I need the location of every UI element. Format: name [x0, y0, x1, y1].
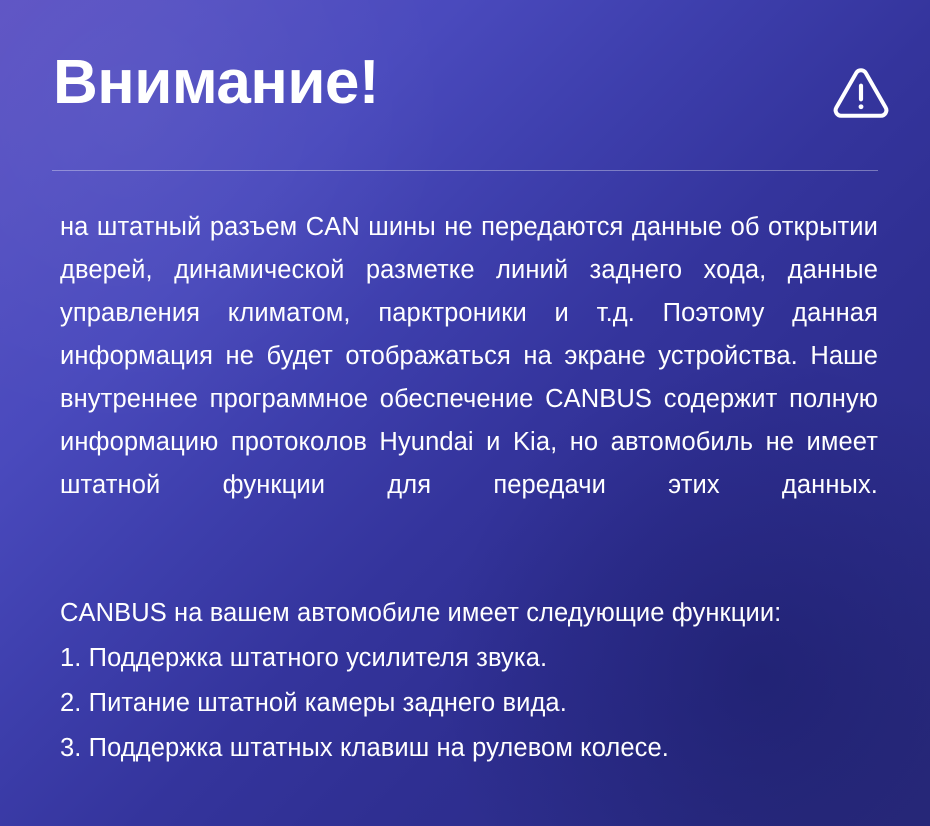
header-divider — [52, 170, 878, 171]
functions-intro: CANBUS на вашем автомобиле имеет следующ… — [60, 592, 880, 635]
list-item: 2. Питание штатной камеры заднего вида. — [60, 682, 880, 725]
warning-triangle-icon — [830, 62, 892, 124]
functions-list: 1. Поддержка штатного усилителя звука. 2… — [60, 637, 880, 770]
functions-section: CANBUS на вашем автомобиле имеет следующ… — [60, 592, 880, 770]
page-title: Внимание! — [53, 52, 379, 114]
list-item: 3. Поддержка штатных клавиш на рулевом к… — [60, 727, 880, 770]
notice-paragraph: на штатный разъем CAN шины не передаются… — [60, 206, 878, 550]
warning-notice-banner: Внимание! на штатный разъем CAN шины не … — [0, 0, 930, 826]
banner-header: Внимание! — [0, 0, 930, 172]
list-item: 1. Поддержка штатного усилителя звука. — [60, 637, 880, 680]
notice-body: на штатный разъем CAN шины не передаются… — [60, 206, 878, 550]
